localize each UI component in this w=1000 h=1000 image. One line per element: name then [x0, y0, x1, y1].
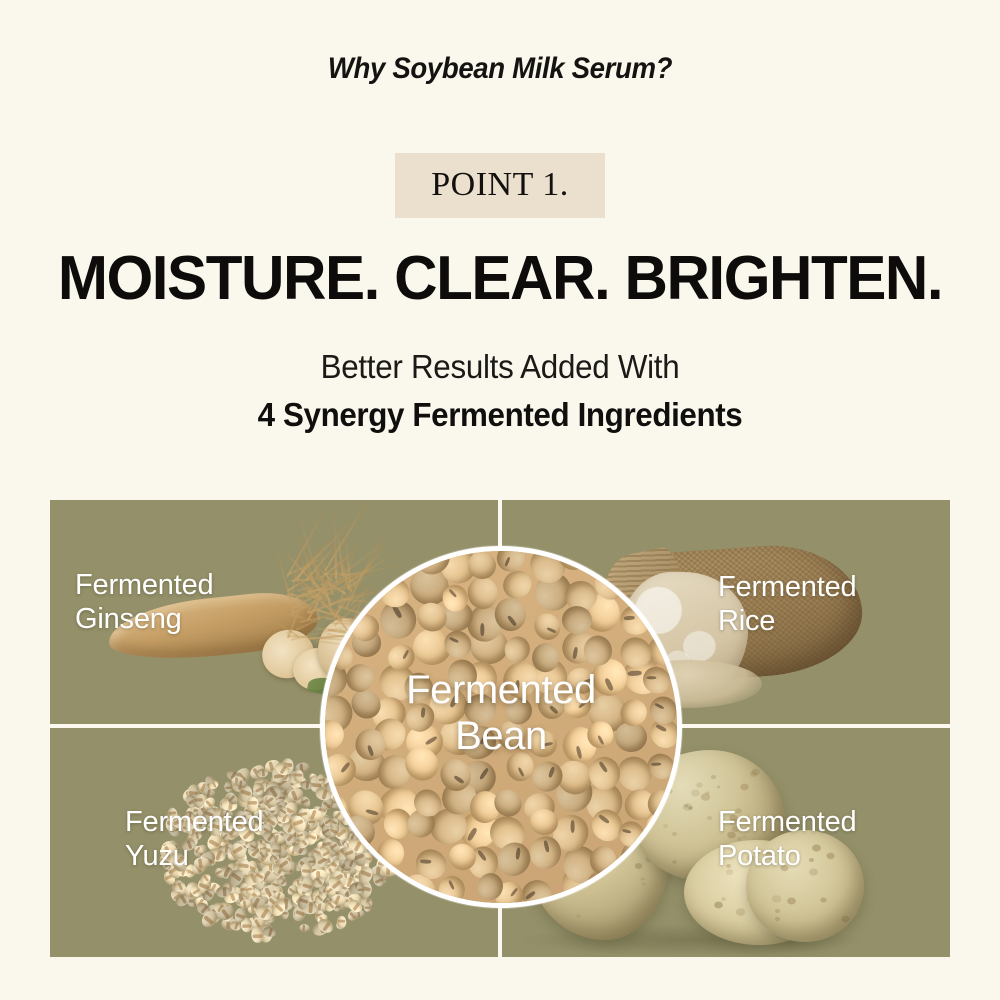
potato-speckle [701, 793, 710, 801]
grain-icon [280, 859, 299, 878]
grain-icon [233, 889, 253, 907]
grain-icon [276, 876, 288, 888]
grain-icon [251, 910, 263, 923]
grain-icon [301, 901, 318, 915]
grain-icon [259, 884, 276, 898]
grain-icon [225, 885, 243, 901]
grain-icon [299, 924, 310, 933]
grain-icon [281, 771, 300, 788]
grain-icon [195, 780, 213, 796]
grain-icon [299, 872, 321, 893]
potato-speckle [697, 782, 704, 787]
grain-icon [268, 788, 286, 804]
potato-speckle [821, 897, 827, 902]
grain-icon [264, 892, 282, 910]
grain-icon [266, 897, 281, 914]
grain-icon [295, 762, 310, 774]
grain-icon [236, 779, 247, 788]
grain-icon [236, 784, 254, 804]
grain-icon [196, 875, 214, 895]
potato-speckle [736, 908, 746, 916]
grain-icon [273, 884, 284, 897]
grain-icon [202, 778, 221, 795]
grain-icon [282, 836, 300, 855]
grain-icon [276, 805, 290, 819]
grain-icon [200, 887, 216, 903]
grain-icon [270, 846, 283, 858]
grain-icon [232, 888, 253, 908]
grain-icon [253, 890, 272, 910]
grain-icon [275, 799, 290, 814]
grain-icon [223, 781, 233, 793]
grain-icon [256, 905, 274, 920]
potato-speckle [721, 897, 726, 901]
quadrant-label-ginseng: Fermented Ginseng [75, 568, 213, 636]
grain-icon [264, 862, 285, 884]
grain-icon [264, 778, 285, 800]
grain-icon [261, 793, 279, 809]
soybean-icon [502, 632, 534, 665]
grain-icon [239, 899, 252, 909]
grain-icon [263, 758, 281, 774]
grain-icon [300, 807, 313, 822]
grain-icon [276, 844, 292, 858]
center-circle-fermented-bean: Fermented Bean [320, 546, 682, 908]
grain-icon [229, 920, 243, 932]
grain-icon [295, 829, 306, 842]
grain-icon [260, 781, 273, 791]
grain-icon [251, 926, 264, 942]
grain-icon [242, 881, 255, 891]
grain-icon [287, 770, 303, 784]
grain-icon [273, 829, 290, 845]
grain-icon [290, 891, 308, 908]
grain-icon [174, 892, 192, 909]
center-circle-label: Fermented Bean [325, 667, 677, 760]
potato-speckle [787, 897, 796, 904]
grain-icon [281, 820, 299, 837]
grain-icon [263, 901, 275, 916]
soybean-icon [587, 871, 619, 901]
grain-icon [263, 906, 277, 921]
grain-icon [307, 849, 318, 858]
grain-icon [276, 842, 294, 858]
grain-icon [273, 772, 293, 793]
grain-icon [280, 774, 292, 790]
grain-icon [259, 882, 280, 901]
grain-icon [281, 758, 294, 775]
grain-icon [269, 869, 288, 886]
grain-icon [276, 812, 291, 825]
subheadline-line-2: 4 Synergy Fermented Ingredients [25, 396, 975, 434]
grain-icon [315, 913, 329, 927]
grain-icon [271, 772, 289, 787]
grain-icon [299, 876, 315, 894]
potato-speckle [750, 771, 757, 777]
grain-icon [288, 890, 309, 910]
grain-icon [271, 798, 285, 812]
grain-icon [272, 846, 288, 859]
grain-icon [306, 855, 325, 875]
grain-icon [316, 922, 329, 934]
grain-icon [231, 776, 243, 786]
grain-icon [251, 782, 265, 797]
grain-icon [316, 916, 336, 935]
grain-icon [261, 922, 275, 935]
grain-icon [287, 791, 306, 808]
grain-icon [274, 856, 286, 870]
grain-icon [295, 854, 314, 873]
grain-icon [271, 862, 288, 878]
grain-icon [269, 899, 288, 918]
grain-icon [291, 878, 303, 888]
grain-icon [248, 894, 268, 912]
potato-speckle [707, 816, 712, 820]
grain-icon [297, 808, 310, 823]
grain-icon [280, 860, 294, 871]
grain-icon [264, 888, 275, 896]
grain-icon [311, 805, 324, 820]
grain-icon [169, 888, 184, 904]
grain-icon [291, 823, 303, 838]
grain-icon [173, 884, 189, 897]
grain-icon [248, 901, 261, 912]
grain-icon [281, 809, 302, 830]
grain-icon [267, 836, 285, 855]
grain-icon [275, 855, 294, 875]
grain-icon [203, 788, 216, 799]
grain-icon [231, 776, 250, 794]
grain-icon [265, 842, 277, 855]
grain-icon [306, 893, 317, 903]
grain-icon [306, 864, 323, 882]
grain-icon [334, 916, 348, 931]
quadrant-label-yuzu: Fermented Yuzu [125, 805, 263, 873]
grain-icon [262, 905, 275, 922]
grain-icon [271, 844, 282, 858]
grain-icon [263, 805, 278, 821]
grain-icon [224, 768, 240, 783]
grain-icon [285, 786, 304, 803]
page-eyebrow-title: Why Soybean Milk Serum? [40, 52, 960, 86]
grain-icon [290, 772, 304, 785]
grain-icon [255, 904, 276, 924]
grain-icon [207, 905, 221, 923]
grain-icon [271, 858, 287, 874]
grain-icon [296, 893, 311, 910]
grain-icon [262, 862, 276, 873]
grain-icon [261, 794, 280, 813]
grain-icon [286, 824, 297, 833]
grain-icon [223, 889, 241, 905]
grain-icon [271, 854, 280, 865]
grain-icon [250, 913, 271, 933]
grain-icon [286, 817, 305, 837]
grain-icon [315, 910, 325, 922]
grain-icon [294, 769, 304, 782]
grain-icon [287, 844, 302, 857]
grain-icon [203, 774, 217, 790]
grain-icon [224, 891, 238, 903]
grain-icon [310, 845, 323, 860]
grain-icon [272, 800, 285, 814]
grain-icon [305, 823, 326, 845]
grain-icon [216, 900, 235, 917]
grain-icon [307, 772, 319, 784]
grain-icon [311, 920, 330, 937]
grain-icon [291, 891, 305, 906]
potato-speckle [775, 917, 780, 921]
grain-icon [260, 883, 268, 894]
grain-icon [230, 776, 246, 794]
grain-icon [241, 917, 253, 932]
grain-icon [243, 879, 260, 892]
grain-icon [281, 800, 300, 820]
grain-icon [294, 880, 314, 899]
potato-speckle [685, 804, 689, 807]
grain-icon [292, 904, 307, 922]
grain-icon [283, 832, 295, 842]
grain-icon [269, 816, 278, 827]
grain-icon [305, 863, 320, 878]
grain-icon [252, 875, 264, 890]
grain-icon [275, 897, 293, 912]
grain-icon [243, 886, 262, 906]
grain-icon [291, 898, 302, 908]
grain-icon [278, 850, 293, 868]
page-headline: MOISTURE. CLEAR. BRIGHTEN. [15, 243, 985, 314]
grain-icon [268, 852, 280, 864]
point-badge-label: POINT 1. [431, 168, 569, 204]
grain-icon [184, 880, 202, 900]
grain-icon [249, 915, 267, 932]
grain-icon [243, 915, 258, 932]
potato-speckle [775, 909, 780, 913]
grain-icon [269, 884, 283, 899]
grain-icon [281, 828, 299, 845]
grain-icon [265, 827, 281, 845]
grain-icon [290, 903, 308, 923]
grain-icon [244, 884, 254, 896]
grain-icon [297, 875, 315, 889]
grain-icon [253, 782, 265, 797]
grain-icon [266, 852, 278, 867]
grain-icon [269, 845, 289, 865]
grain-icon [292, 830, 309, 843]
potato-speckle [714, 901, 723, 908]
grain-icon [270, 843, 287, 860]
grain-icon [345, 908, 361, 924]
grain-icon [262, 926, 277, 939]
grain-icon [269, 898, 288, 916]
soybean-icon [529, 609, 565, 645]
grain-icon [232, 906, 247, 924]
grain-icon [284, 831, 305, 850]
grain-icon [291, 774, 307, 788]
grain-icon [288, 829, 296, 839]
subheadline-line-1: Better Results Added With [25, 348, 975, 386]
quadrant-label-potato: Fermented Potato [718, 805, 856, 873]
grain-icon [296, 836, 312, 851]
grain-icon [272, 854, 286, 869]
grain-icon [204, 902, 223, 922]
grain-icon [309, 775, 324, 793]
grain-icon [261, 804, 277, 818]
grain-icon [184, 884, 203, 900]
grain-icon [304, 830, 319, 847]
grain-icon [285, 883, 299, 897]
potato-speckle [691, 789, 700, 796]
grain-icon [172, 880, 187, 893]
grain-icon [290, 812, 304, 824]
grain-icon [181, 785, 202, 805]
grain-icon [271, 833, 286, 846]
grain-icon [272, 858, 290, 872]
grain-icon [263, 793, 278, 809]
grain-icon [273, 760, 292, 778]
grain-icon [255, 895, 269, 907]
grain-icon [188, 883, 202, 898]
grain-icon [262, 793, 283, 815]
grain-icon [308, 865, 325, 880]
grain-icon [278, 798, 294, 817]
grain-icon [298, 871, 316, 891]
grain-icon [290, 829, 301, 838]
grain-icon [278, 791, 286, 802]
grain-icon [307, 815, 316, 826]
grain-icon [187, 784, 200, 801]
grain-icon [198, 872, 212, 886]
grain-icon [262, 799, 282, 817]
potato-speckle [772, 896, 782, 904]
grain-icon [170, 878, 185, 895]
grain-icon [300, 780, 312, 790]
grain-icon [306, 855, 315, 867]
grain-icon [258, 920, 272, 937]
grain-icon [194, 900, 212, 917]
grain-icon [266, 825, 274, 836]
grain-icon [270, 877, 282, 890]
grain-icon [265, 904, 280, 917]
grain-icon [276, 814, 287, 828]
grain-icon [299, 857, 316, 874]
grain-icon [287, 781, 300, 797]
grain-icon [265, 911, 274, 923]
grain-icon [271, 767, 286, 785]
grain-icon [298, 868, 318, 887]
grain-icon [300, 862, 312, 877]
grain-icon [252, 776, 272, 794]
grain-icon [262, 783, 283, 803]
grain-icon [191, 892, 211, 913]
grain-icon [293, 859, 307, 873]
grain-icon [259, 926, 275, 944]
grain-icon [283, 793, 299, 806]
grain-icon [290, 814, 308, 834]
grain-icon [206, 881, 222, 896]
grain-icon [264, 845, 281, 862]
grain-icon [215, 885, 230, 897]
grain-icon [252, 903, 273, 923]
quadrant-label-rice: Fermented Rice [718, 570, 856, 638]
grain-icon [354, 909, 365, 918]
potato-speckle [740, 783, 748, 790]
grain-icon [193, 895, 210, 911]
grain-icon [221, 917, 238, 931]
grain-icon [299, 795, 312, 809]
grain-icon [317, 774, 325, 784]
grain-icon [173, 883, 183, 895]
grain-icon [266, 813, 279, 828]
grain-icon [337, 916, 347, 929]
grain-icon [222, 881, 238, 894]
grain-icon [280, 908, 289, 919]
grain-icon [238, 881, 252, 897]
grain-icon [264, 798, 278, 812]
grain-icon [263, 779, 282, 800]
potato-speckle [841, 916, 849, 923]
grain-icon [288, 769, 301, 784]
grain-icon [199, 908, 221, 930]
grain-icon [279, 785, 293, 796]
grain-icon [364, 902, 372, 912]
grain-icon [300, 858, 320, 876]
grain-icon [252, 789, 263, 798]
grain-icon [290, 812, 310, 832]
grain-icon [302, 831, 318, 848]
grain-icon [301, 818, 318, 832]
grain-icon [187, 893, 198, 907]
grain-icon [305, 807, 324, 824]
grain-icon [247, 903, 261, 915]
grain-icon [220, 907, 234, 923]
grain-icon [211, 901, 227, 916]
grain-icon [253, 896, 270, 911]
grain-icon [207, 779, 220, 790]
grain-icon [257, 768, 269, 778]
soybean-icon [438, 875, 465, 904]
grain-icon [278, 830, 287, 841]
grain-icon [247, 762, 267, 781]
grain-icon [269, 781, 282, 792]
point-badge: POINT 1. [395, 153, 605, 218]
soybean-icon [465, 575, 500, 611]
grain-icon [279, 771, 291, 782]
grain-icon [273, 891, 286, 902]
potato-speckle [576, 914, 580, 918]
grain-icon [268, 797, 279, 811]
grain-icon [216, 903, 237, 923]
potato-speckle [711, 775, 716, 779]
grain-icon [292, 840, 311, 857]
grain-icon [261, 814, 280, 833]
promo-page: Why Soybean Milk Serum? POINT 1. MOISTUR… [0, 0, 1000, 1000]
grain-icon [231, 765, 253, 787]
potato-speckle [717, 785, 721, 788]
